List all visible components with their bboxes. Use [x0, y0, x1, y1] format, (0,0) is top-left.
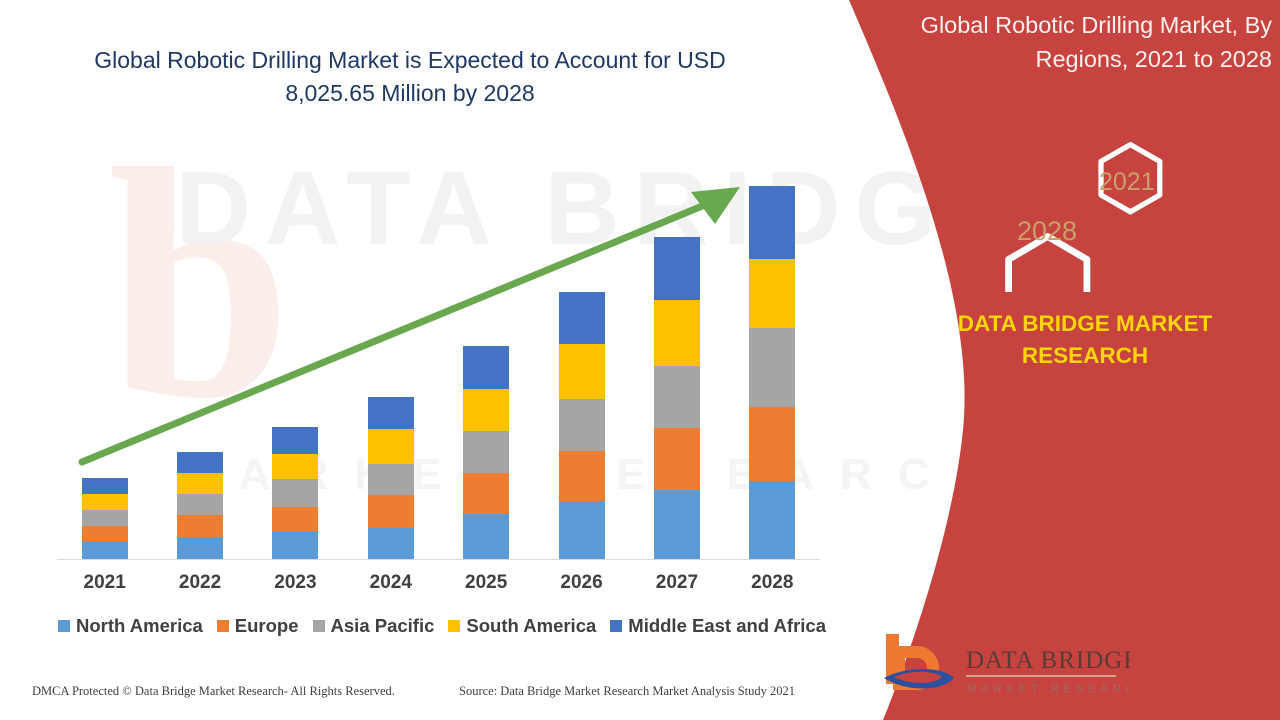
segment-north-america	[749, 481, 795, 559]
segment-south-america	[463, 389, 509, 431]
year-hexagons: 2028 2021	[960, 132, 1280, 292]
infographic-page: b DATA BRIDGE MARKET RESEARCH Global Rob…	[0, 0, 1280, 720]
segment-europe	[559, 451, 605, 501]
legend-label: Asia Pacific	[331, 615, 435, 637]
segment-asia-pacific	[749, 328, 795, 407]
hexagon-2021-label: 2021	[1099, 168, 1155, 196]
bar-2022[interactable]	[177, 452, 223, 559]
hexagon-2028-label: 2028	[1017, 216, 1077, 246]
footer-source: Source: Data Bridge Market Research Mark…	[459, 684, 795, 699]
segment-south-america	[82, 494, 128, 510]
legend-label: South America	[466, 615, 596, 637]
segment-middle-east-and-africa	[463, 346, 509, 389]
segment-europe	[654, 428, 700, 490]
x-tick-2022: 2022	[155, 572, 245, 594]
segment-asia-pacific	[654, 366, 700, 428]
segment-asia-pacific	[177, 494, 223, 515]
segment-asia-pacific	[272, 479, 318, 507]
stacked-bar-plot	[57, 160, 820, 560]
footer-copyright: DMCA Protected © Data Bridge Market Rese…	[32, 684, 395, 699]
red-panel-content: Global Robotic Drilling Market, By Regio…	[880, 0, 1280, 720]
legend-label: Europe	[235, 615, 299, 637]
chart-title: Global Robotic Drilling Market is Expect…	[60, 44, 760, 110]
segment-south-america	[749, 259, 795, 328]
segment-north-america	[368, 528, 414, 559]
legend-item-south-america[interactable]: South America	[448, 615, 596, 637]
segment-europe	[368, 495, 414, 528]
x-tick-2026: 2026	[537, 572, 627, 594]
segment-middle-east-and-africa	[559, 292, 605, 344]
bar-2024[interactable]	[368, 397, 414, 559]
bar-2028[interactable]	[749, 186, 795, 559]
chart-panel: Global Robotic Drilling Market is Expect…	[0, 0, 860, 720]
legend-item-europe[interactable]: Europe	[217, 615, 299, 637]
legend-item-north-america[interactable]: North America	[58, 615, 203, 637]
segment-asia-pacific	[82, 510, 128, 526]
segment-north-america	[272, 532, 318, 559]
segment-middle-east-and-africa	[749, 186, 795, 259]
x-tick-2025: 2025	[441, 572, 531, 594]
segment-middle-east-and-africa	[368, 397, 414, 429]
segment-north-america	[177, 537, 223, 559]
bar-2023[interactable]	[272, 427, 318, 559]
data-bridge-logo: DATA BRIDGE MARKET RESEARCH	[870, 628, 1130, 708]
segment-europe	[749, 407, 795, 481]
x-tick-2028: 2028	[727, 572, 817, 594]
x-tick-2027: 2027	[632, 572, 722, 594]
segment-middle-east-and-africa	[272, 427, 318, 454]
segment-middle-east-and-africa	[654, 237, 700, 300]
segment-south-america	[654, 300, 700, 366]
legend-swatch-icon	[58, 620, 70, 632]
segment-south-america	[559, 344, 605, 399]
segment-europe	[463, 473, 509, 514]
x-axis-labels: 20212022202320242025202620272028	[57, 572, 820, 602]
segment-south-america	[368, 429, 414, 464]
legend-swatch-icon	[313, 620, 325, 632]
segment-north-america	[654, 490, 700, 559]
legend-item-middle-east-and-africa[interactable]: Middle East and Africa	[610, 615, 826, 637]
legend-label: Middle East and Africa	[628, 615, 826, 637]
logo-main-text: DATA BRIDGE	[966, 647, 1130, 674]
segment-south-america	[272, 454, 318, 479]
segment-asia-pacific	[368, 464, 414, 495]
segment-north-america	[82, 542, 128, 559]
segment-europe	[272, 507, 318, 532]
brand-name: DATA BRIDGE MARKET RESEARCH	[900, 308, 1270, 372]
segment-asia-pacific	[559, 399, 605, 451]
chart-legend: North AmericaEuropeAsia PacificSouth Ame…	[57, 615, 827, 637]
panel-title: Global Robotic Drilling Market, By Regio…	[888, 8, 1272, 76]
logo-b-mark	[884, 634, 954, 689]
legend-label: North America	[76, 615, 203, 637]
segment-europe	[177, 515, 223, 537]
segment-europe	[82, 526, 128, 542]
legend-swatch-icon	[448, 620, 460, 632]
legend-item-asia-pacific[interactable]: Asia Pacific	[313, 615, 435, 637]
bar-2026[interactable]	[559, 292, 605, 559]
segment-middle-east-and-africa	[82, 478, 128, 494]
segment-north-america	[559, 501, 605, 559]
legend-swatch-icon	[217, 620, 229, 632]
logo-sub-text: MARKET RESEARCH	[967, 683, 1130, 695]
segment-north-america	[463, 514, 509, 559]
segment-middle-east-and-africa	[177, 452, 223, 473]
bar-2021[interactable]	[82, 478, 128, 559]
bar-2025[interactable]	[463, 346, 509, 559]
bar-2027[interactable]	[654, 237, 700, 559]
segment-south-america	[177, 473, 223, 494]
segment-asia-pacific	[463, 431, 509, 473]
x-tick-2021: 2021	[60, 572, 150, 594]
x-tick-2024: 2024	[346, 572, 436, 594]
legend-swatch-icon	[610, 620, 622, 632]
x-axis-baseline	[57, 559, 820, 560]
x-tick-2023: 2023	[250, 572, 340, 594]
